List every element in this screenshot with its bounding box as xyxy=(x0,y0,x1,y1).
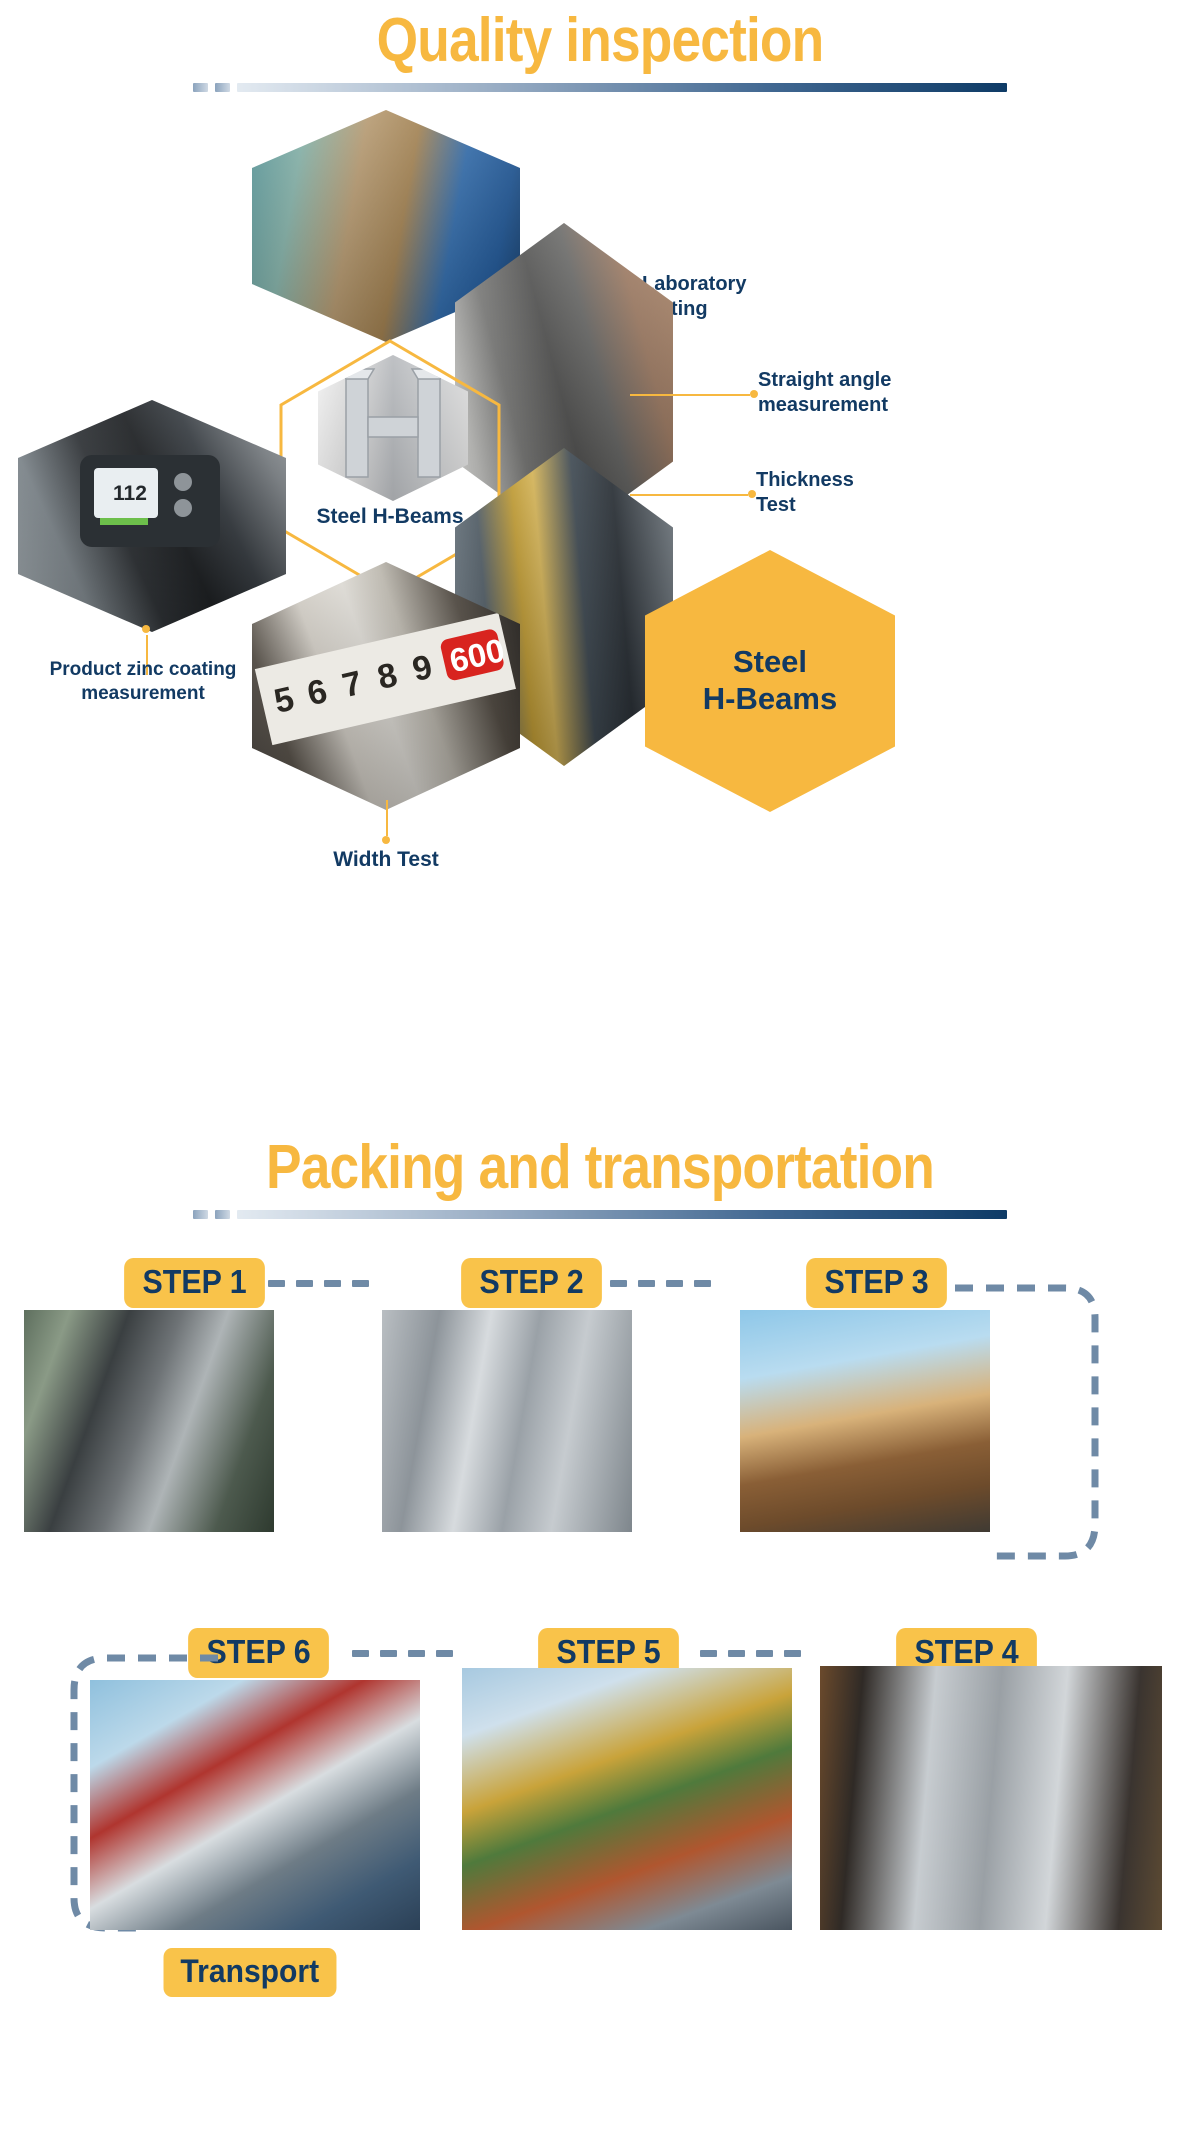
dash xyxy=(324,1280,341,1287)
label-thickness-test: Thickness Test xyxy=(756,468,854,518)
steps-row-top: STEP 1 STEP 2 STEP 3 xyxy=(0,1258,1200,1678)
dash xyxy=(666,1280,683,1287)
dash xyxy=(700,1650,717,1657)
step-connector-4-5 xyxy=(700,1650,801,1657)
step-photo-4 xyxy=(820,1666,1162,1930)
dash xyxy=(352,1280,369,1287)
infographic-page: Quality inspection Laboratory testing St… xyxy=(0,0,1200,2139)
page-title: Quality inspection xyxy=(84,8,1116,73)
steps-row-bottom: STEP 6 STEP 5 STEP 4 Transport xyxy=(0,1628,1200,2108)
divider-bar xyxy=(237,1210,1007,1219)
divider-dash-2 xyxy=(215,83,230,92)
label-width-test: Width Test xyxy=(252,848,520,872)
dash xyxy=(380,1650,397,1657)
leader-line xyxy=(630,494,748,496)
dash xyxy=(352,1650,369,1657)
leader-dot xyxy=(750,390,758,398)
label-zinc-coating: Product zinc coating measurement xyxy=(8,658,278,706)
step-badge-3[interactable]: STEP 3 xyxy=(806,1258,947,1308)
step-connector-1-2 xyxy=(268,1280,369,1287)
dash xyxy=(296,1280,313,1287)
transport-badge[interactable]: Transport xyxy=(164,1948,337,1997)
step-photo-6 xyxy=(90,1680,420,1930)
divider-dash-1 xyxy=(193,1210,208,1219)
step-photo-2 xyxy=(382,1310,632,1532)
packing-divider xyxy=(0,1210,1200,1219)
dash xyxy=(436,1650,453,1657)
step-photo-5 xyxy=(462,1668,792,1930)
dash xyxy=(728,1650,745,1657)
packing-title: Packing and transportation xyxy=(84,1135,1116,1200)
leader-line xyxy=(630,394,750,396)
dash xyxy=(610,1280,627,1287)
section-divider xyxy=(0,83,1200,92)
divider-dash-2 xyxy=(215,1210,230,1219)
label-straight-angle: Straight angle measurement xyxy=(758,368,891,418)
dash xyxy=(638,1280,655,1287)
packing-transportation-section: Packing and transportation xyxy=(0,1135,1200,1219)
quality-inspection-section: Quality inspection xyxy=(0,8,1200,92)
dash xyxy=(694,1280,711,1287)
label-steel-h-beams-badge: Steel H-Beams xyxy=(703,644,837,717)
dash xyxy=(784,1650,801,1657)
width-test-leader xyxy=(380,800,392,844)
zinc-coating-image: 112 xyxy=(18,400,286,632)
step-connector-2-3 xyxy=(610,1280,711,1287)
step-photo-1 xyxy=(24,1310,274,1532)
step-badge-1[interactable]: STEP 1 xyxy=(124,1258,265,1308)
leader-dot xyxy=(748,490,756,498)
divider-bar xyxy=(237,83,1007,92)
leader-dot xyxy=(382,836,390,844)
zinc-coating-photo: 112 xyxy=(18,400,286,632)
dash xyxy=(268,1280,285,1287)
step-photo-3 xyxy=(740,1310,990,1532)
divider-dash-1 xyxy=(193,83,208,92)
svg-text:112: 112 xyxy=(113,482,147,505)
leader-line xyxy=(386,800,388,836)
leader-dot xyxy=(142,625,150,633)
dash xyxy=(408,1650,425,1657)
quality-hex-collage: Laboratory testing Straight angle measur… xyxy=(0,110,1200,1050)
step-badge-2[interactable]: STEP 2 xyxy=(461,1258,602,1308)
dash xyxy=(756,1650,773,1657)
step-connector-5-6 xyxy=(352,1650,453,1657)
steel-h-beams-badge: Steel H-Beams xyxy=(645,550,895,812)
